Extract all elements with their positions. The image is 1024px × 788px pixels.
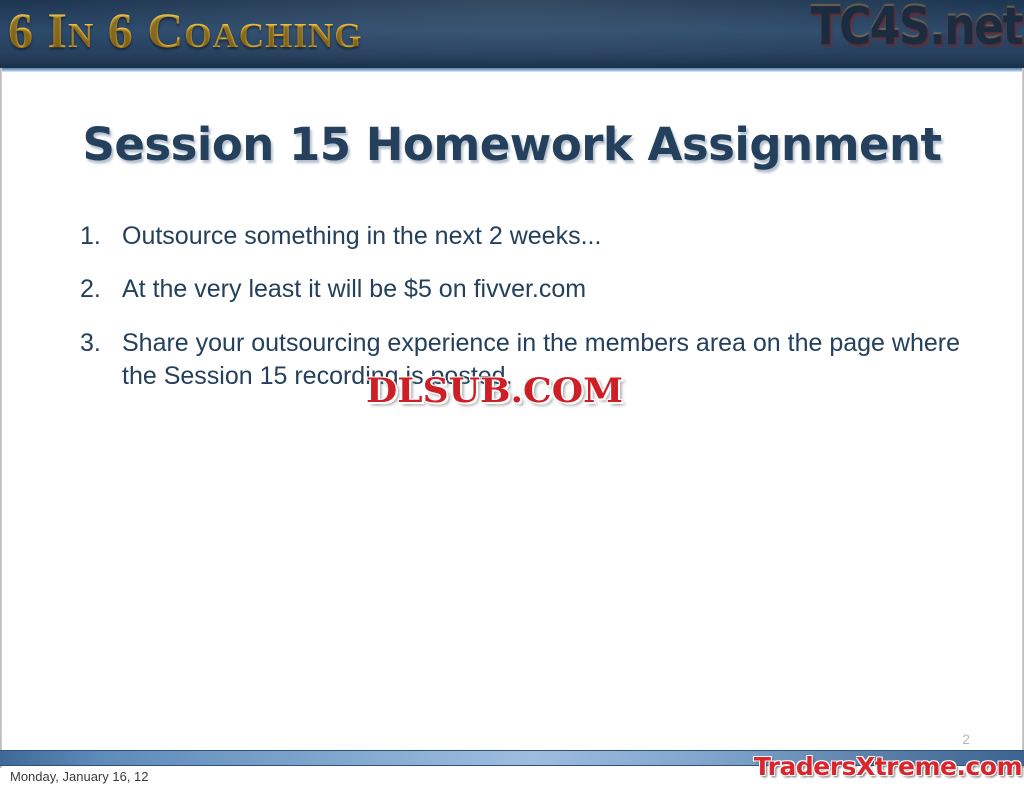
list-item-number: 2. — [80, 273, 122, 306]
dlsub-watermark: DLSUB.COM — [366, 371, 623, 411]
tc4s-site-logo: TC4S.net — [810, 0, 1022, 57]
list-item: 2. At the very least it will be $5 on fi… — [80, 273, 980, 306]
slide-header-banner: 6 In 6 Coaching TC4S.net — [0, 0, 1024, 68]
list-item-text: At the very least it will be $5 on fivve… — [122, 273, 980, 306]
tradersxtreme-footer-logo: TradersXtreme.com — [754, 752, 1022, 781]
list-item-number: 3. — [80, 327, 122, 360]
list-item: 1. Outsource something in the next 2 wee… — [80, 220, 980, 253]
brand-title: 6 In 6 Coaching — [8, 2, 362, 60]
list-item-text: Outsource something in the next 2 weeks.… — [122, 220, 980, 253]
page-title: Session 15 Homework Assignment — [2, 118, 1022, 171]
slide-canvas: 6 In 6 Coaching TC4S.net Session 15 Home… — [0, 0, 1024, 788]
list-item-number: 1. — [80, 220, 122, 253]
footer-date: Monday, January 16, 12 — [10, 769, 149, 784]
page-number: 2 — [962, 731, 970, 747]
